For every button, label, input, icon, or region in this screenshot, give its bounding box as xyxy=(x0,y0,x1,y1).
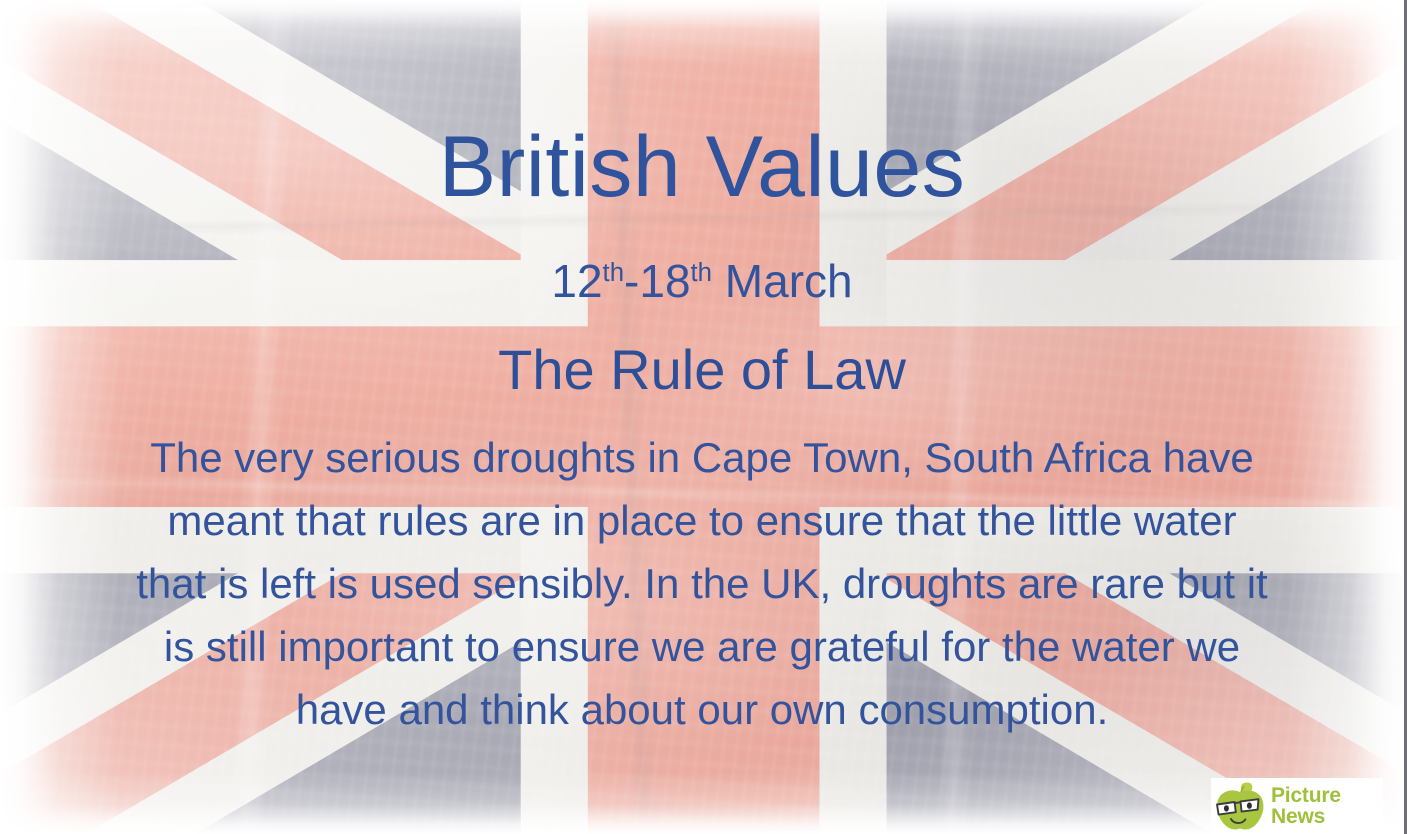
logo-line-picture: Picture xyxy=(1271,785,1341,806)
body-line: that is left is used sensibly. In the UK… xyxy=(46,552,1358,615)
body-line: have and think about our own consumption… xyxy=(46,678,1358,741)
date-ordinal-start: th xyxy=(603,259,624,287)
body-paragraph: The very serious droughts in Cape Town, … xyxy=(46,426,1358,741)
date-range: 12th-18th March xyxy=(0,258,1404,304)
body-line: is still important to ensure we are grat… xyxy=(46,615,1358,678)
subtitle-theme: The Rule of Law xyxy=(0,342,1404,398)
date-ordinal-end: th xyxy=(691,259,712,287)
page-title: British Values xyxy=(0,124,1404,210)
picture-news-logo: Picture News xyxy=(1211,778,1383,834)
logo-line-news: News xyxy=(1271,806,1341,827)
date-day-end: 18 xyxy=(639,255,690,307)
slide-content: British Values 12th-18th March The Rule … xyxy=(0,0,1404,834)
body-line: The very serious droughts in Cape Town, … xyxy=(46,426,1358,489)
date-separator: - xyxy=(624,255,639,307)
apple-with-glasses-icon xyxy=(1213,780,1267,832)
slide-canvas: British Values 12th-18th March The Rule … xyxy=(0,0,1407,834)
date-month: March xyxy=(712,255,853,307)
logo-wordmark: Picture News xyxy=(1271,785,1341,827)
date-day-start: 12 xyxy=(551,255,602,307)
body-line: meant that rules are in place to ensure … xyxy=(46,489,1358,552)
